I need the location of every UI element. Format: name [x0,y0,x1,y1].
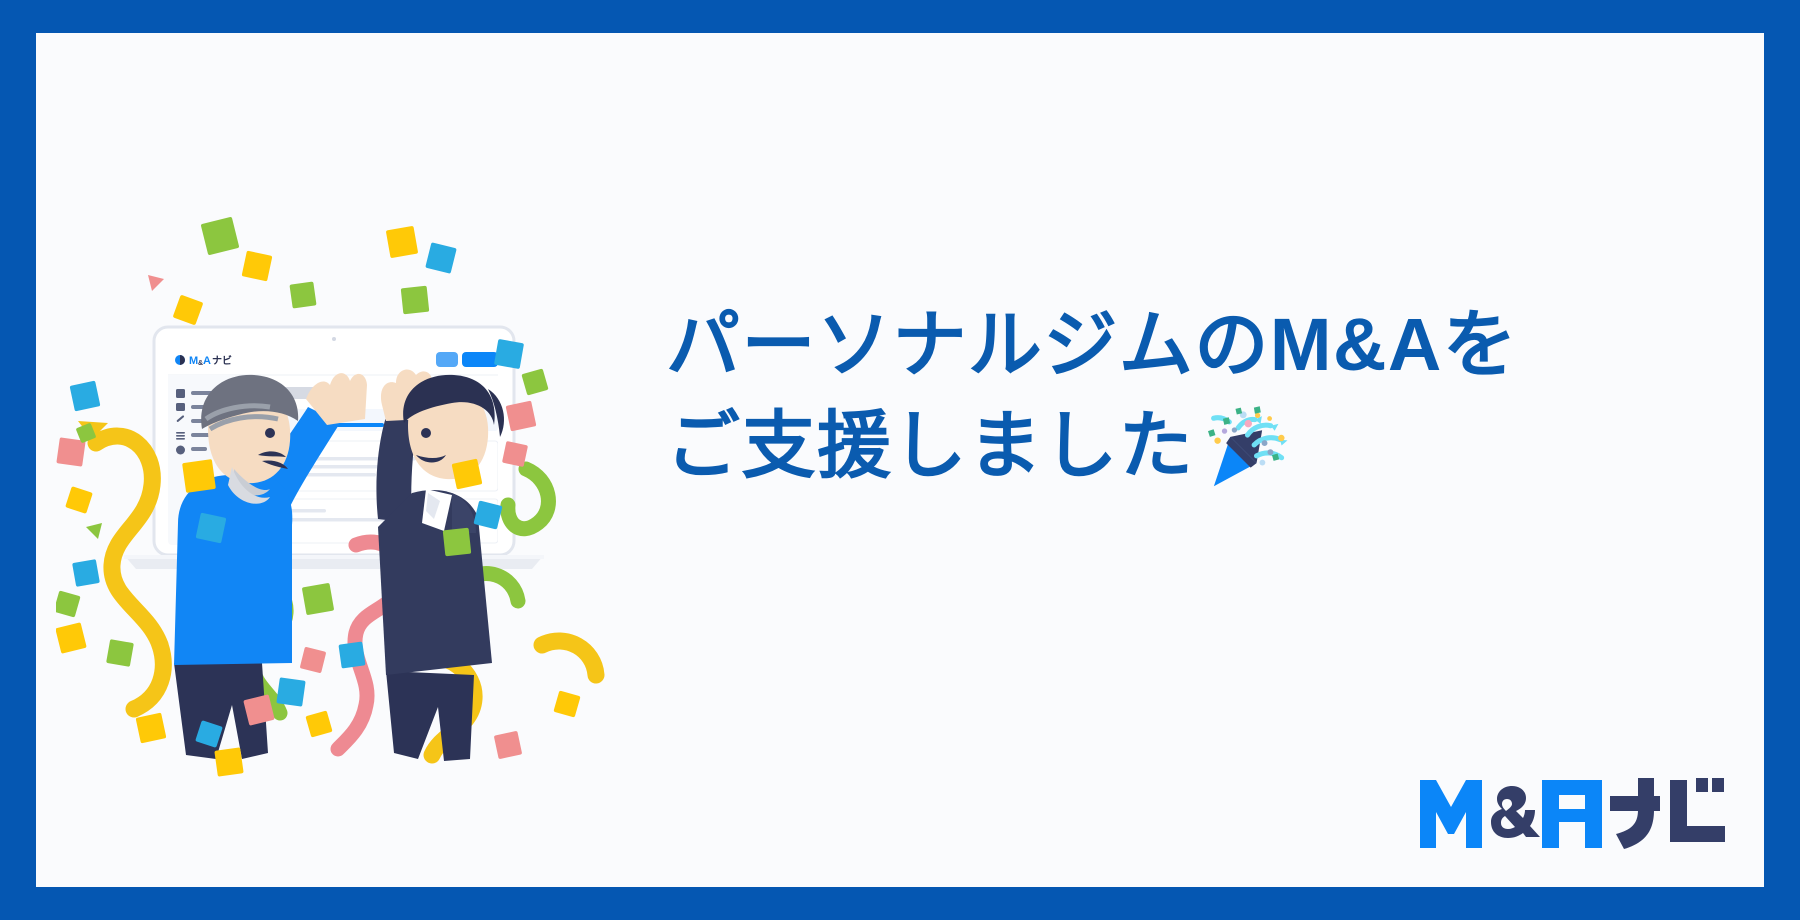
banner-inner: M & A ナビ [36,33,1764,887]
headline-line-1-text: パーソナルジムのM&Aを [666,295,1518,396]
celebration-illustration: M & A ナビ [56,193,636,793]
mana-logo [1418,778,1728,858]
logo-letter-amp [1491,786,1540,838]
headline-line-1: パーソナルジムのM&Aを [666,295,1666,396]
logo-kana-bi-dot1 [1696,778,1708,792]
svg-text:A: A [203,355,211,367]
party-popper-icon [1200,398,1296,494]
logo-letter-m [1420,780,1482,848]
headline: パーソナルジムのM&Aを ご支援しました [666,295,1666,496]
logo-kana-bi-dot2 [1712,778,1724,792]
logo-letter-a [1542,780,1602,848]
headline-line-2-text: ご支援しました [666,396,1194,497]
svg-text:M: M [189,355,198,367]
banner-frame: M & A ナビ [0,0,1800,920]
logo-kana-na-stroke [1616,778,1654,849]
headline-line-2: ご支援しました [666,396,1666,497]
svg-text:ナビ: ナビ [212,354,232,367]
